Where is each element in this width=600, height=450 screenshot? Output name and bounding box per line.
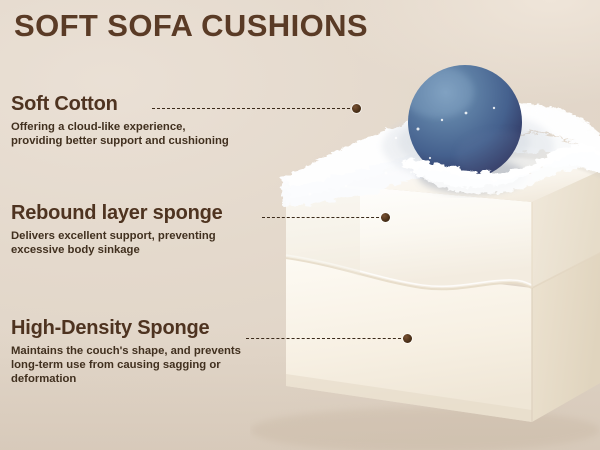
callout-description-rebound-layer-sponge: Delivers excellent support, preventing e… [11,229,223,257]
callout-description-high-density-sponge: Maintains the couch's shape, and prevent… [11,344,241,386]
leader-line-rebound [262,217,384,218]
block-ground-shadow [250,408,600,450]
callout-soft-cotton: Soft Cotton Offering a cloud-like experi… [11,94,229,148]
infographic-poster: SOFT SOFA CUSHIONS Soft Cotton Offering … [0,0,600,450]
density-layer-marker[interactable] [403,334,412,343]
leader-line-density [246,338,406,339]
cushion-cutaway-illustration [250,30,600,450]
rebound-layer-marker[interactable] [381,213,390,222]
callout-title-rebound-layer-sponge: Rebound layer sponge [11,203,223,224]
page-title: SOFT SOFA CUSHIONS [14,8,368,44]
callout-rebound-layer-sponge: Rebound layer sponge Delivers excellent … [11,203,223,257]
callout-title-soft-cotton: Soft Cotton [11,94,229,115]
cotton-layer-marker[interactable] [352,104,361,113]
callout-high-density-sponge: High-Density Sponge Maintains the couch'… [11,318,241,386]
callout-title-high-density-sponge: High-Density Sponge [11,318,241,339]
callout-description-soft-cotton: Offering a cloud-like experience, provid… [11,120,229,148]
